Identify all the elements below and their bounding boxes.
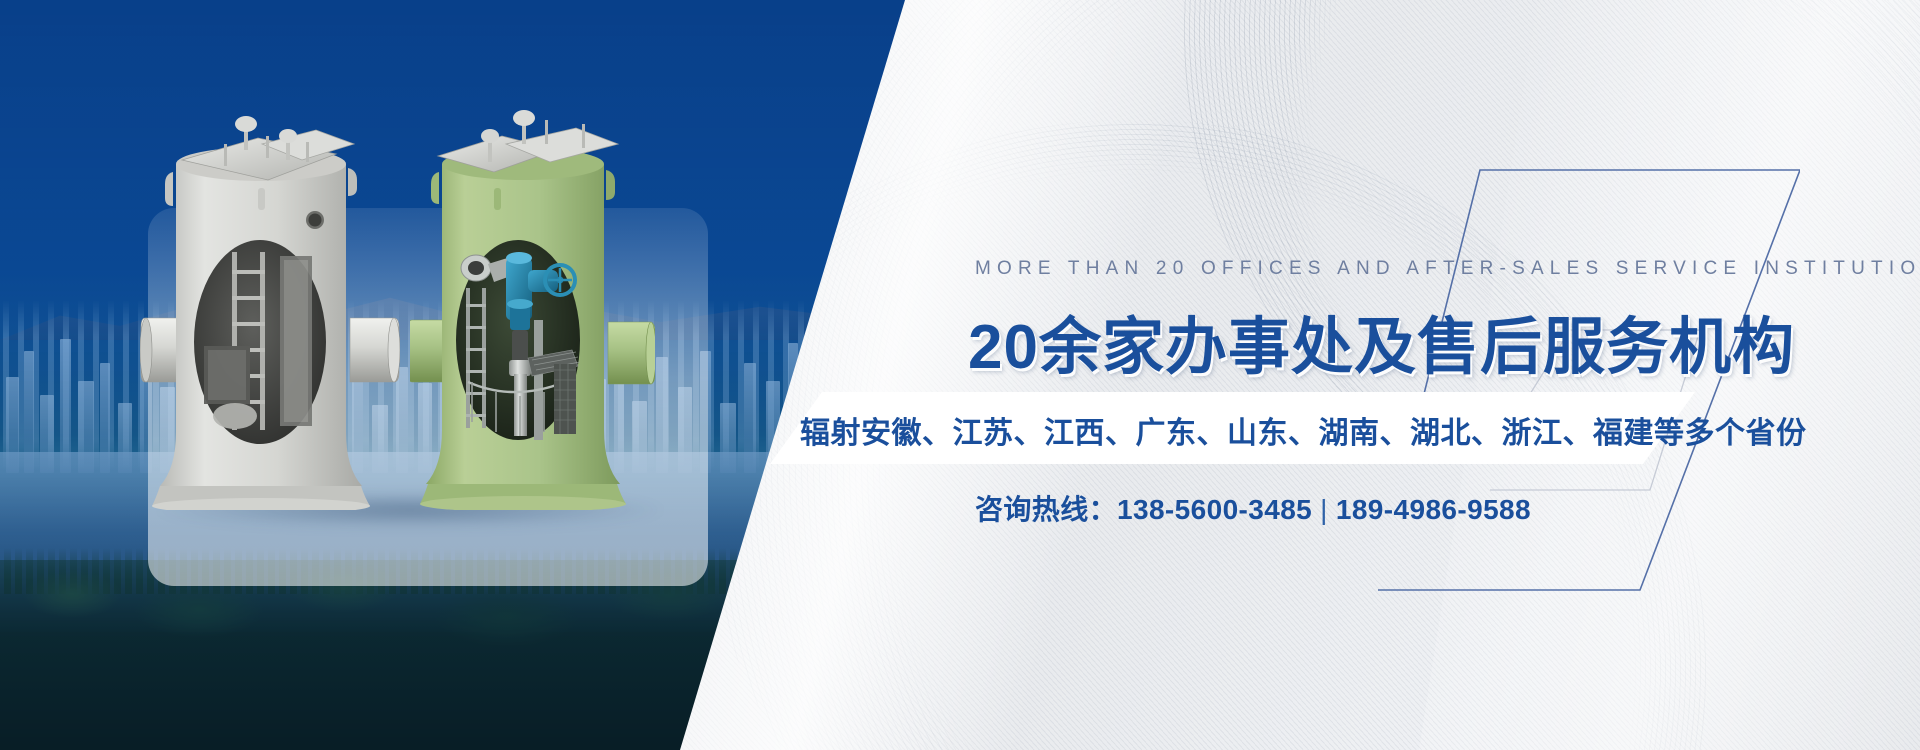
province-coverage-text: 辐射安徽、江苏、江西、广东、山东、湖南、湖北、浙江、福建等多个省份 — [800, 408, 1807, 452]
hotline-row: 咨询热线：138-5600-3485|189-4986-9588 — [975, 488, 1531, 528]
english-tagline: MORE THAN 20 OFFICES AND AFTER-SALES SER… — [975, 258, 1920, 280]
product-green-pump-station — [410, 108, 655, 510]
promo-banner: MORE THAN 20 OFFICES AND AFTER-SALES SER… — [0, 0, 1920, 750]
headline-title: 20余家办事处及售后服务机构 — [968, 296, 1795, 386]
hotline-separator: | — [1312, 494, 1336, 525]
hotline-number-primary[interactable]: 138-5600-3485 — [1117, 494, 1312, 525]
hotline-label: 咨询热线： — [975, 494, 1117, 525]
hotline-number-secondary[interactable]: 189-4986-9588 — [1336, 494, 1531, 525]
product-grey-pump-station — [140, 110, 400, 510]
